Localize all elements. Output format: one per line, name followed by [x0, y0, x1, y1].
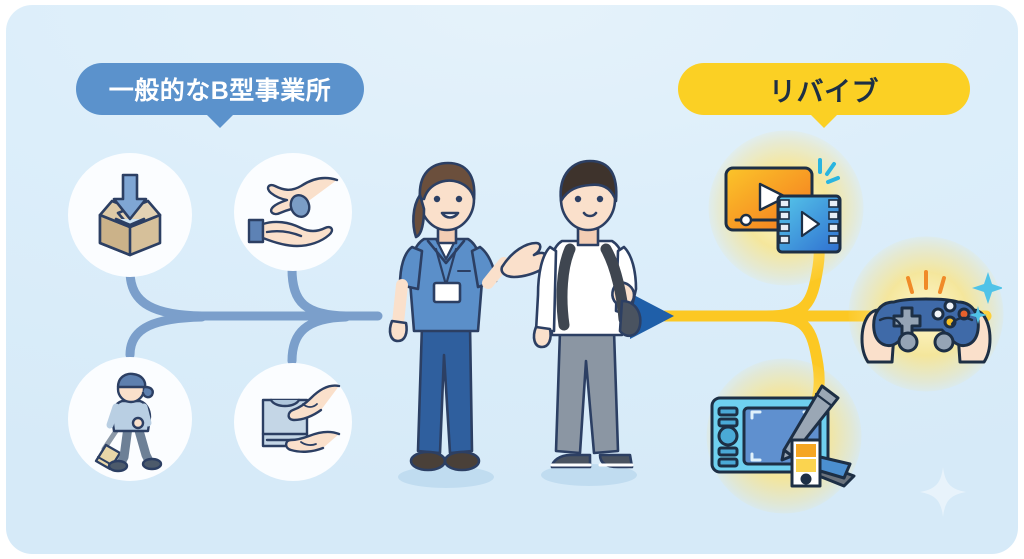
assembly-icon	[234, 153, 352, 271]
video-editing-icon	[712, 147, 860, 269]
badge-pointer-right	[810, 114, 838, 128]
badge-general-office: 一般的なB型事業所	[76, 63, 364, 115]
badge-general-office-label: 一般的なB型事業所	[109, 71, 332, 107]
badge-revive: リバイブ	[678, 63, 970, 115]
folding-icon	[234, 363, 352, 481]
badge-pointer-left	[206, 114, 234, 128]
illustration-canvas: 一般的なB型事業所 リバイブ	[6, 5, 1018, 554]
sparkle-icon	[920, 467, 966, 522]
cleaning-icon	[68, 357, 192, 481]
illustration-stage: 一般的なB型事業所 リバイブ	[0, 0, 1024, 559]
packing-icon	[68, 153, 192, 277]
design-tablet-icon	[700, 377, 868, 495]
badge-revive-label: リバイブ	[769, 70, 879, 109]
people-illustration	[384, 155, 674, 495]
game-controller-icon	[846, 255, 1006, 373]
